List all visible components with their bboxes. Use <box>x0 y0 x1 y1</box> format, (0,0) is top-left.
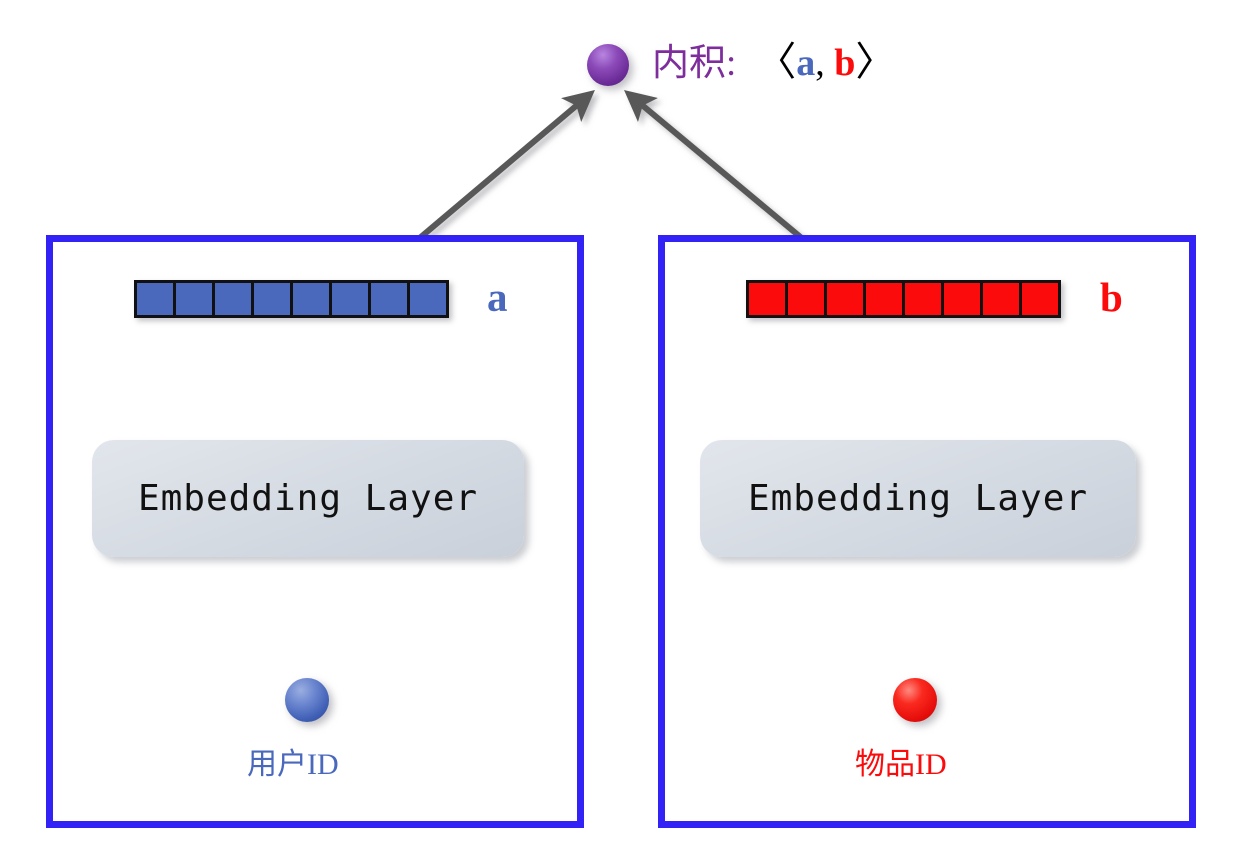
vector-cell <box>212 280 254 318</box>
vector-cell <box>824 280 866 318</box>
formula-comma: , <box>815 42 825 84</box>
vector-cell <box>329 280 371 318</box>
user-embedding-layer: Embedding Layer <box>92 440 524 557</box>
item-embedding-layer-label: Embedding Layer <box>748 478 1088 519</box>
formula-vector-a: a <box>796 42 815 84</box>
formula-label-zh: 内积: <box>652 43 736 84</box>
vector-cell <box>980 280 1022 318</box>
dot-product-formula: 内积: 〈a, b〉 <box>652 42 895 82</box>
vector-cell <box>407 280 449 318</box>
dot-product-node <box>587 44 629 86</box>
vector-cell <box>941 280 983 318</box>
formula-vector-b: b <box>834 42 855 84</box>
vector-cell <box>863 280 905 318</box>
vector-cell <box>290 280 332 318</box>
user-id-node <box>285 678 329 722</box>
vector-cell <box>902 280 944 318</box>
user-vector-label: a <box>487 277 508 318</box>
vector-cell <box>251 280 293 318</box>
formula-bracket-close: 〉 <box>855 39 895 84</box>
item-vector-label: b <box>1100 277 1123 318</box>
item-embedding-vector <box>746 280 1061 318</box>
vector-cell <box>785 280 827 318</box>
vector-cell <box>173 280 215 318</box>
vector-cell <box>134 280 176 318</box>
item-id-node <box>893 678 937 722</box>
item-embedding-layer: Embedding Layer <box>700 440 1136 557</box>
user-id-label: 用户ID <box>247 750 339 780</box>
vector-cell <box>368 280 410 318</box>
formula-bracket-open: 〈 <box>756 39 796 84</box>
vector-cell <box>746 280 788 318</box>
item-id-label: 物品ID <box>855 750 947 780</box>
user-embedding-vector <box>134 280 449 318</box>
diagram-canvas: 内积: 〈a, b〉 a Embedding Layer 用户ID b Embe… <box>0 0 1250 843</box>
vector-cell <box>1019 280 1061 318</box>
user-embedding-layer-label: Embedding Layer <box>138 478 478 519</box>
